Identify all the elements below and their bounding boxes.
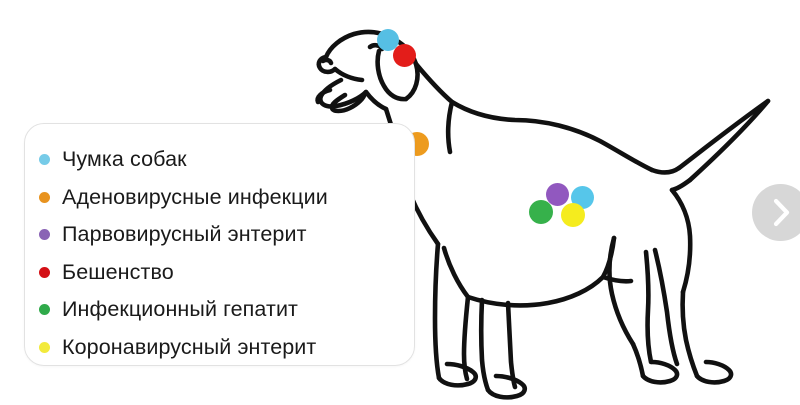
- legend-bullet-icon: [39, 192, 50, 203]
- legend-item-label: Инфекционный гепатит: [62, 299, 298, 321]
- legend-card: Чумка собак Аденовирусные инфекции Парво…: [24, 123, 415, 366]
- legend-item-label: Коронавирусный энтерит: [62, 337, 316, 359]
- legend-item-coronavirus[interactable]: Коронавирусный энтерит: [25, 329, 414, 367]
- legend-bullet-icon: [39, 154, 50, 165]
- legend-item-label: Чумка собак: [62, 149, 187, 171]
- infographic-canvas: Чумка собак Аденовирусные инфекции Парво…: [0, 0, 800, 405]
- legend-item-adenovirus[interactable]: Аденовирусные инфекции: [25, 179, 414, 217]
- next-slide-button[interactable]: [752, 184, 800, 241]
- chevron-right-icon: [752, 184, 800, 241]
- legend-bullet-icon: [39, 229, 50, 240]
- legend-item-parvovirus[interactable]: Парвовирусный энтерит: [25, 216, 414, 254]
- body-marker-hepatitis-abdomen[interactable]: [529, 200, 553, 224]
- legend-item-rabies[interactable]: Бешенство: [25, 254, 414, 292]
- legend-item-label: Аденовирусные инфекции: [62, 187, 328, 209]
- legend-item-hepatitis[interactable]: Инфекционный гепатит: [25, 291, 414, 329]
- body-marker-coronavirus-abdomen[interactable]: [561, 203, 585, 227]
- legend-item-label: Парвовирусный энтерит: [62, 224, 307, 246]
- legend-bullet-icon: [39, 342, 50, 353]
- legend-item-label: Бешенство: [62, 262, 174, 284]
- legend-bullet-icon: [39, 267, 50, 278]
- body-marker-rabies-head[interactable]: [393, 44, 416, 67]
- legend-bullet-icon: [39, 304, 50, 315]
- legend-item-distemper[interactable]: Чумка собак: [25, 141, 414, 179]
